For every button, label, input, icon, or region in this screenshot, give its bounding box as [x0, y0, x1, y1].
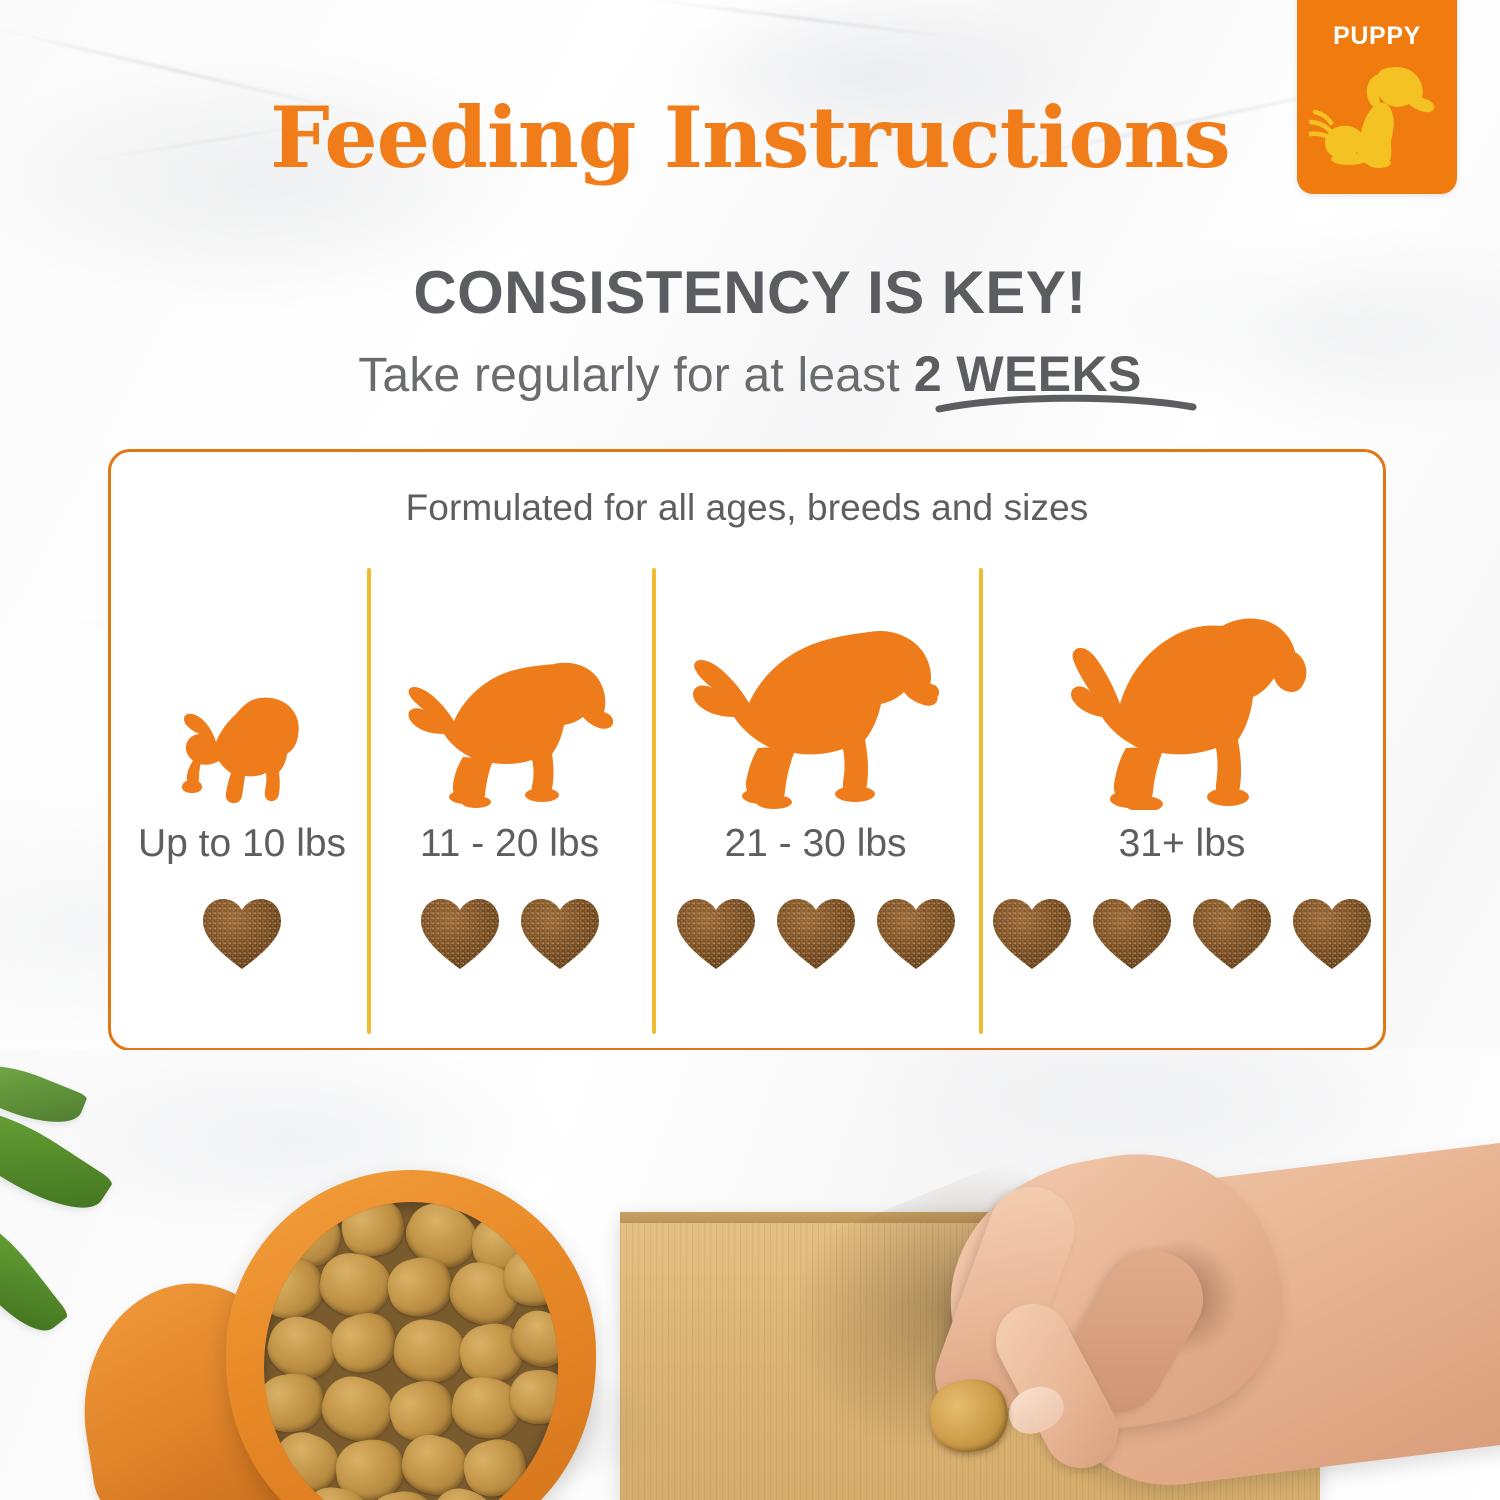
feeding-column: 31+ lbs [979, 592, 1385, 1032]
treat-heart-icon [417, 892, 503, 972]
small-puppy-silhouette-icon [174, 692, 310, 810]
dog-illustration-slot [117, 592, 367, 810]
dog-illustration-slot [367, 592, 652, 810]
treat-heart-icon [873, 892, 959, 972]
treat-heart-icon [673, 892, 759, 972]
tagline-prefix: Take regularly for at least [358, 349, 900, 402]
treat-heart-icon [517, 892, 603, 972]
feeding-chart-card: Formulated for all ages, breeds and size… [108, 449, 1386, 1051]
weight-range-label: 11 - 20 lbs [367, 822, 652, 866]
treat-count-group [652, 892, 979, 972]
treat-heart-icon [1189, 892, 1275, 972]
weight-range-label: 21 - 30 lbs [652, 822, 979, 866]
puppy-badge-label: PUPPY [1297, 22, 1457, 51]
dog-illustration-slot [979, 592, 1385, 810]
page-title: Feeding Instructions [0, 88, 1500, 187]
feeding-column: 11 - 20 lbs [367, 592, 652, 1032]
treat-heart-icon [1289, 892, 1375, 972]
product-photo [0, 1050, 1500, 1500]
treat-heart-icon [199, 892, 285, 972]
extra-large-dog-silhouette-icon [1054, 614, 1310, 810]
weight-range-label: Up to 10 lbs [117, 822, 367, 866]
tagline: Take regularly for at least2 WEEKS [0, 345, 1500, 403]
treat-count-group [117, 892, 367, 972]
feeding-instructions-infographic: PUPPY Feeding Instructions CON [0, 0, 1500, 1500]
underline-swoosh-icon [935, 392, 1197, 414]
feeding-column: Up to 10 lbs [117, 592, 367, 1032]
bowl-interior [264, 1202, 558, 1500]
card-header-text: Formulated for all ages, breeds and size… [111, 487, 1383, 529]
medium-dog-silhouette-icon [404, 658, 616, 810]
treat-count-group [979, 892, 1385, 972]
dog-illustration-slot [652, 592, 979, 810]
weight-range-label: 31+ lbs [979, 822, 1385, 866]
treat-heart-icon [1089, 892, 1175, 972]
treat-heart-icon [773, 892, 859, 972]
feeding-column: 21 - 30 lbs [652, 592, 979, 1032]
treat-count-group [367, 892, 652, 972]
page-subtitle: CONSISTENCY IS KEY! [0, 258, 1500, 327]
treat-heart-icon [989, 892, 1075, 972]
large-dog-silhouette-icon [693, 628, 939, 810]
